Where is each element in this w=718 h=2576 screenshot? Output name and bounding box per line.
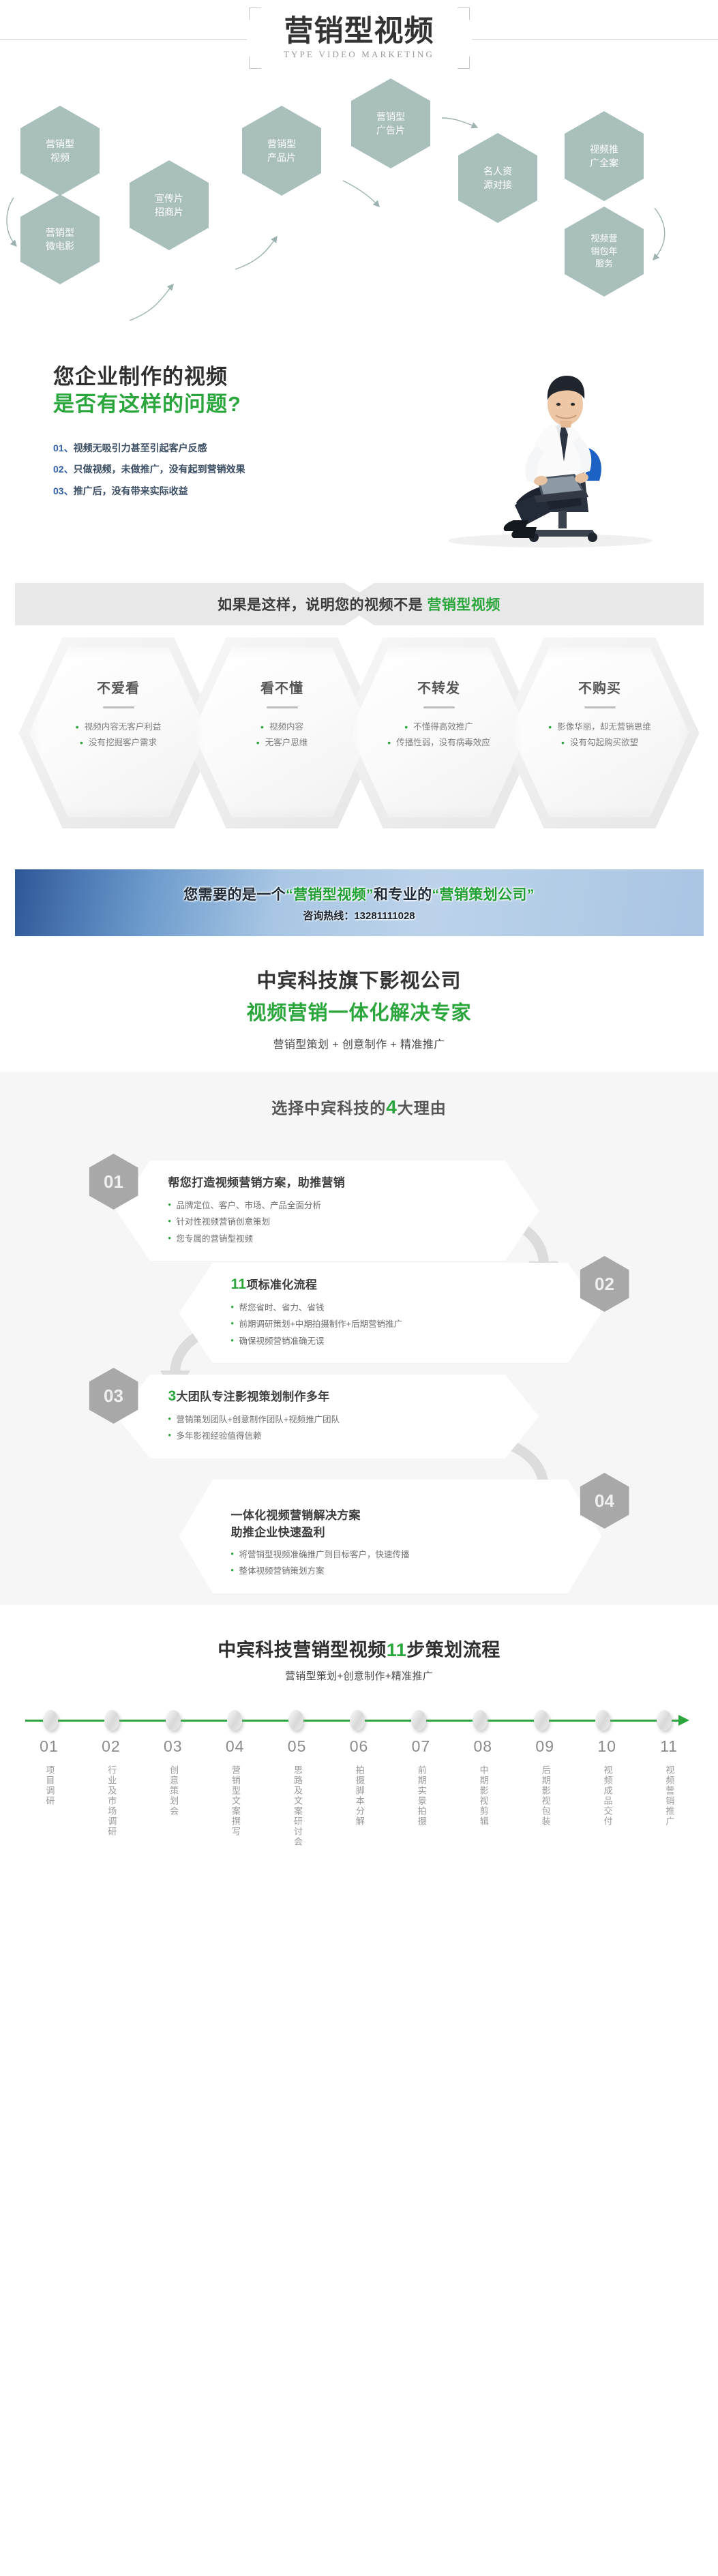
timeline-node: [288, 1710, 303, 1731]
step-number: 11: [660, 1737, 678, 1756]
reason-title-text: 一体化视频营销解决方案 助推企业快速盈利: [231, 1509, 361, 1539]
reason-title: 11项标准化流程: [231, 1275, 550, 1293]
steps-title-prefix: 中宾科技营销型视频: [218, 1640, 387, 1660]
reasons-section: 选择中宾科技的4大理由 01 帮您打造视频营销方案，助推营销: [0, 1072, 718, 1605]
timeline-arrow-icon: [678, 1715, 689, 1726]
step-number: 07: [412, 1737, 431, 1756]
reason-title-text: 大团队专注影视策划制作多年: [176, 1390, 329, 1403]
hex-celebrity-resources[interactable]: 名人资源对接: [458, 133, 537, 223]
hex-label-line1: 视频推: [590, 143, 618, 156]
card-title: 不转发: [417, 677, 460, 697]
step-label: 项目调研: [42, 1765, 57, 1806]
step-item-11[interactable]: 11 视频营销推广: [638, 1737, 700, 1847]
company-line-1: 中宾科技旗下影视公司: [0, 965, 718, 993]
hex-label-line1: 宣传片: [155, 192, 183, 205]
hex-label-line2: 广告片: [376, 123, 405, 137]
reason-point: 帮您省时、省力、省钱: [231, 1300, 550, 1316]
reason-point: 将营销型视频准确推广到目标客户，快速传播: [231, 1546, 550, 1563]
blue-banner-part2: 和专业的: [374, 887, 432, 903]
timeline-node: [657, 1710, 672, 1731]
reasons-heading-prefix: 选择中宾科技的: [271, 1099, 386, 1117]
grey-banner-text: 如果是这样，说明您的视频不是 营销型视频: [218, 594, 500, 614]
corner-bracket-icon: [458, 57, 470, 69]
card-title: 看不懂: [260, 677, 303, 697]
step-item-01[interactable]: 01 项目调研: [18, 1737, 80, 1847]
list-item-text: 推广后，没有带来实际收益: [74, 485, 188, 496]
grey-banner-accent: 营销型视频: [427, 597, 500, 613]
blue-banner-headline: 您需要的是一个“营销型视频”和专业的“营销策划公司”: [183, 884, 534, 904]
step-item-05[interactable]: 05 思路及文案研讨会: [266, 1737, 328, 1847]
question-list: 01、视频无吸引力甚至引起客户反感 02、只做视频，未做推广，没有起到营销效果 …: [53, 438, 340, 503]
hex-label-line2: 销包年: [590, 245, 617, 258]
corner-bracket-icon: [249, 8, 261, 20]
card-point: 没有勾起购买欲望: [561, 735, 638, 751]
step-number: 05: [288, 1737, 307, 1756]
reason-point: 针对性视频营销创意策划: [168, 1214, 488, 1230]
company-line-3: 营销型策划 + 创意制作 + 精准推广: [0, 1035, 718, 1051]
step-item-03[interactable]: 03 创意策划会: [142, 1737, 204, 1847]
reason-title-number: 11: [231, 1276, 247, 1292]
hex-marketing-micro-film[interactable]: 营销型微电影: [20, 194, 100, 284]
hex-label-line2: 招商片: [155, 205, 183, 219]
reasons-heading: 选择中宾科技的4大理由: [0, 1095, 718, 1118]
grey-banner-prefix: 如果是这样，说明您的视频不是: [218, 597, 427, 613]
list-item: 01、视频无吸引力甚至引起客户反感: [53, 438, 340, 460]
step-label: 拍摄脚本分解: [351, 1765, 367, 1827]
step-number: 06: [350, 1737, 369, 1756]
timeline-node: [227, 1710, 242, 1731]
step-label: 中期影视剪辑: [475, 1765, 491, 1827]
card-point: 视频内容无客户利益: [76, 719, 162, 735]
card-divider: [103, 706, 134, 708]
step-item-02[interactable]: 02 行业及市场调研: [80, 1737, 142, 1847]
company-line-2: 视频营销一体化解决专家: [0, 997, 718, 1025]
hex-label-line1: 营销型: [46, 137, 74, 151]
steps-section: 中宾科技营销型视频11步策划流程 营销型策划+创意制作+精准推广 01 项目调研: [0, 1605, 718, 1874]
step-number: 02: [102, 1737, 121, 1756]
step-number: 01: [40, 1737, 59, 1756]
hex-promo-film[interactable]: 宣传片招商片: [130, 160, 209, 250]
reason-point: 前期调研策划+中期拍摄制作+后期营销推广: [231, 1316, 550, 1332]
steps-title-number: 11: [387, 1640, 407, 1660]
reason-point: 品牌定位、客户、市场、产品全面分析: [168, 1197, 488, 1214]
reasons-heading-number: 4: [386, 1096, 398, 1118]
steps-title-suffix: 步策划流程: [406, 1640, 500, 1660]
reason-card-03[interactable]: 3大团队专注影视策划制作多年 营销策划团队+创意制作团队+视频推广团队 多年影视…: [117, 1375, 539, 1458]
reason-title-text: 帮您打造视频营销方案，助推营销: [168, 1176, 346, 1189]
businessman-photo: [380, 344, 700, 549]
card-point: 不懂得高效推广: [404, 719, 473, 735]
question-text-block: 您企业制作的视频 是否有这样的问题? 01、视频无吸引力甚至引起客户反感 02、…: [53, 363, 340, 502]
list-item: 03、推广后，没有带来实际收益: [53, 481, 340, 503]
reason-title-text: 项标准化流程: [246, 1278, 317, 1291]
reason-point: 整体视频营销策划方案: [231, 1563, 550, 1579]
step-number: 08: [474, 1737, 493, 1756]
page-title: 营销型视频: [284, 16, 434, 47]
corner-bracket-icon: [249, 57, 261, 69]
reasons-heading-suffix: 大理由: [398, 1099, 447, 1117]
step-label: 后期影视包装: [537, 1765, 553, 1827]
step-label: 营销型文案撰写: [227, 1765, 243, 1837]
company-intro-section: 中宾科技旗下影视公司 视频营销一体化解决专家 营销型策划 + 创意制作 + 精准…: [0, 936, 718, 1072]
hex-label-line1: 视频营: [590, 233, 617, 245]
blue-banner-quote1: “营销型视频”: [286, 887, 374, 903]
hex-label-line2: 微电影: [46, 239, 74, 253]
step-item-09[interactable]: 09 后期影视包装: [514, 1737, 576, 1847]
card-point: 没有挖掘客户需求: [80, 735, 157, 751]
problem-cards-section: 不爱看 视频内容无客户利益 没有挖掘客户需求 看不懂 视频内容 无客户思维 不转…: [0, 635, 718, 860]
step-label: 视频成品交付: [599, 1765, 615, 1827]
reason-point: 多年影视经验值得信赖: [168, 1428, 488, 1444]
page-header: 营销型视频 TYPE VIDEO MARKETING: [0, 0, 718, 78]
card-divider: [423, 706, 455, 708]
hex-label-line2: 视频: [46, 151, 74, 164]
hex-label-line2: 产品片: [267, 151, 296, 164]
service-hex-diagram: 营销型视频 宣传片招商片 营销型微电影 营销型产品片 营销型广告片 名人资源对接…: [0, 78, 718, 344]
reason-point: 确保视频营销准确无误: [231, 1333, 550, 1349]
timeline-node: [350, 1710, 365, 1731]
hex-label-line1: 营销型: [46, 226, 74, 239]
header-title-box: 营销型视频 TYPE VIDEO MARKETING: [247, 4, 472, 72]
grey-banner: 如果是这样，说明您的视频不是 营销型视频: [15, 583, 704, 625]
list-item-number: 02、: [53, 464, 74, 475]
card-point: 影像华丽，却无营销思维: [548, 719, 651, 735]
reason-title: 一体化视频营销解决方案 助推企业快速盈利: [231, 1492, 550, 1540]
step-label: 前期实景拍摄: [413, 1765, 429, 1827]
timeline-node: [104, 1710, 119, 1731]
step-number: 04: [226, 1737, 245, 1756]
reason-point: 您专属的营销型视频: [168, 1231, 488, 1247]
hex-label-line2: 源对接: [483, 178, 512, 192]
timeline-node: [534, 1710, 549, 1731]
steps-timeline-track: [18, 1713, 700, 1728]
steps-subtitle: 营销型策划+创意制作+精准推广: [0, 1668, 718, 1683]
step-label: 创意策划会: [165, 1765, 181, 1816]
question-line-2: 是否有这样的问题?: [53, 391, 340, 418]
step-number: 09: [535, 1737, 554, 1756]
corner-bracket-icon: [458, 8, 470, 20]
question-section: 您企业制作的视频 是否有这样的问题? 01、视频无吸引力甚至引起客户反感 02、…: [0, 344, 718, 569]
blue-cta-banner: 您需要的是一个“营销型视频”和专业的“营销策划公司” 咨询热线：13281111…: [15, 869, 704, 936]
grey-banner-section: 如果是这样，说明您的视频不是 营销型视频: [0, 569, 718, 635]
reasons-list: 01 帮您打造视频营销方案，助推营销 品牌定位、客户、市场、产品全面分析 针对性…: [59, 1141, 659, 1575]
landing-page: 营销型视频 TYPE VIDEO MARKETING 营销型视频: [0, 0, 718, 1874]
reason-row-4: 04 一体化视频营销解决方案 助推企业快速盈利 将营销型视频准确推广到目标客户，…: [59, 1466, 659, 1575]
blue-banner-quote2: “营销策划公司”: [432, 887, 535, 903]
card-divider: [584, 706, 616, 708]
page-subtitle-en: TYPE VIDEO MARKETING: [284, 49, 434, 60]
question-line-1: 您企业制作的视频: [53, 363, 340, 391]
card-point: 视频内容: [260, 719, 303, 735]
reason-title: 3大团队专注影视策划制作多年: [168, 1387, 488, 1405]
step-label: 行业及市场调研: [103, 1765, 119, 1837]
card-point: 传播性弱，没有病毒效应: [387, 735, 490, 751]
hex-label-line1: 名人资: [483, 164, 512, 178]
hex-marketing-video[interactable]: 营销型视频: [20, 106, 100, 196]
list-item-text: 视频无吸引力甚至引起客户反感: [74, 443, 207, 453]
reason-point: 营销策划团队+创意制作团队+视频推广团队: [168, 1411, 488, 1428]
timeline-node: [595, 1710, 610, 1731]
hex-promotion-full-plan[interactable]: 视频推广全案: [565, 111, 644, 201]
reason-title: 帮您打造视频营销方案，助推营销: [168, 1173, 488, 1190]
step-item-10[interactable]: 10 视频成品交付: [576, 1737, 638, 1847]
step-item-06[interactable]: 06 拍摄脚本分解: [328, 1737, 390, 1847]
step-number: 10: [597, 1737, 616, 1756]
hex-annual-service[interactable]: 视频营销包年服务: [565, 207, 644, 297]
step-number: 03: [164, 1737, 183, 1756]
step-item-04[interactable]: 04 营销型文案撰写: [204, 1737, 266, 1847]
reason-title-number: 3: [168, 1388, 177, 1404]
list-item: 02、只做视频，未做推广，没有起到营销效果: [53, 459, 340, 481]
list-item-text: 只做视频，未做推广，没有起到营销效果: [74, 464, 245, 475]
list-item-number: 01、: [53, 443, 74, 453]
timeline-node: [411, 1710, 426, 1731]
hex-label-line2: 广全案: [590, 156, 618, 170]
hex-label-line1: 营销型: [376, 110, 405, 123]
timeline-node: [473, 1710, 488, 1731]
step-item-08[interactable]: 08 中期影视剪辑: [452, 1737, 514, 1847]
hex-label-line3: 服务: [590, 258, 617, 271]
list-item-number: 03、: [53, 485, 74, 496]
blue-banner-part1: 您需要的是一个: [183, 887, 286, 903]
problem-cards-row: 不爱看 视频内容无客户利益 没有挖掘客户需求 看不懂 视频内容 无客户思维 不转…: [15, 635, 704, 860]
reason-card-01[interactable]: 帮您打造视频营销方案，助推营销 品牌定位、客户、市场、产品全面分析 针对性视频营…: [117, 1160, 539, 1261]
steps-columns: 01 项目调研 02 行业及市场调研 03 创意策划会 04 营销型文案撰写 0…: [18, 1737, 700, 1847]
hex-product-film[interactable]: 营销型产品片: [242, 106, 321, 196]
card-point: 无客户思维: [256, 735, 308, 751]
hotline-text[interactable]: 咨询热线：13281111028: [303, 908, 415, 923]
hex-ad-film[interactable]: 营销型广告片: [351, 78, 430, 168]
step-item-07[interactable]: 07 前期实景拍摄: [390, 1737, 452, 1847]
hex-label-line1: 营销型: [267, 137, 296, 151]
reason-card-02[interactable]: 11项标准化流程 帮您省时、省力、省钱 前期调研策划+中期拍摄制作+后期营销推广…: [179, 1263, 602, 1363]
card-title: 不爱看: [97, 677, 140, 697]
reason-card-04[interactable]: 一体化视频营销解决方案 助推企业快速盈利 将营销型视频准确推广到目标客户，快速传…: [179, 1480, 602, 1593]
timeline-node: [166, 1710, 181, 1731]
step-label: 思路及文案研讨会: [289, 1765, 305, 1847]
card-title: 不购买: [578, 677, 621, 697]
businessman-illustration: [380, 344, 700, 549]
step-label: 视频营销推广: [661, 1765, 677, 1827]
timeline-node: [43, 1710, 58, 1731]
steps-title: 中宾科技营销型视频11步策划流程: [0, 1635, 718, 1662]
card-divider: [267, 706, 298, 708]
